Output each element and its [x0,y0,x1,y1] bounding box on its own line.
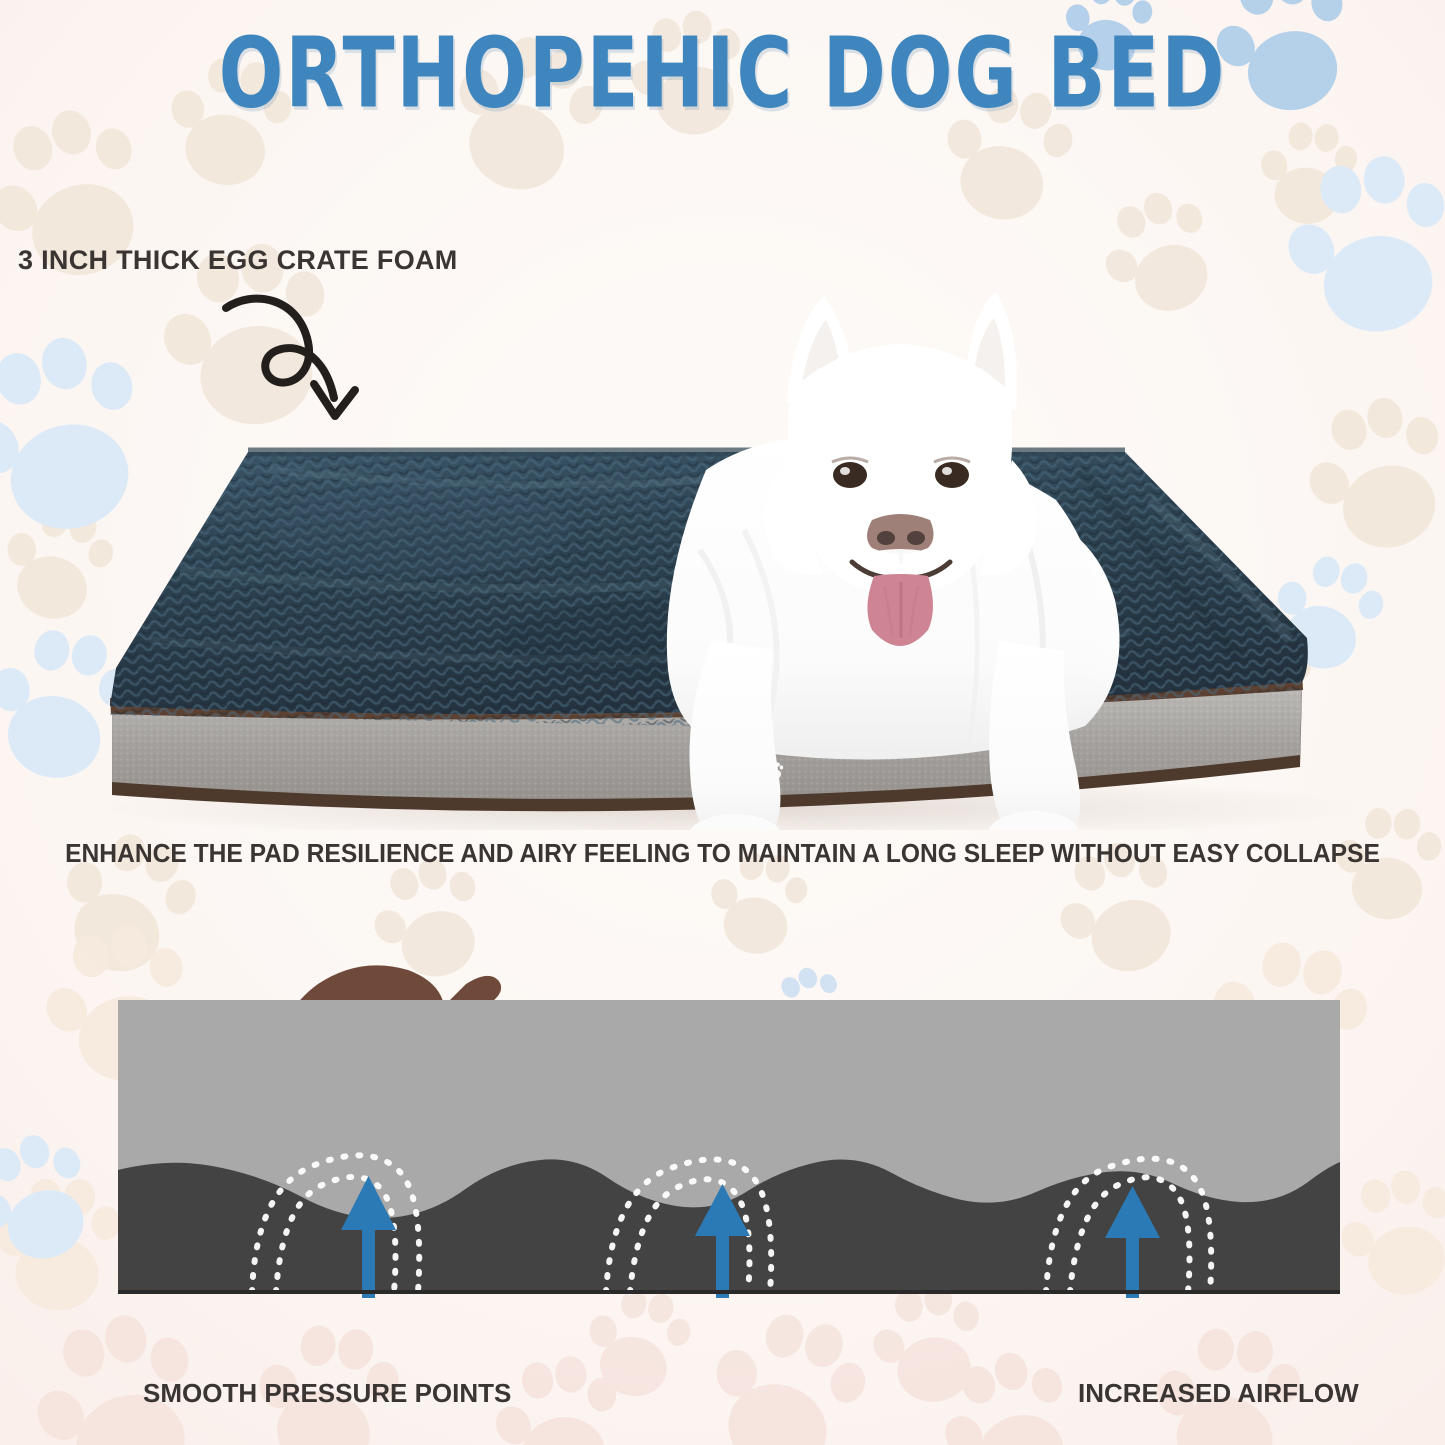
infographic-page: ORTHOPEHIC DOG BED 3 INCH THICK EGG CRAT… [0,0,1445,1445]
foam-cross-section-diagram [0,940,1445,1340]
page-title: ORTHOPEHIC DOG BED [51,18,1395,130]
label-increased-airflow: INCREASED AIRFLOW [1078,1378,1359,1409]
dog-photo [667,292,1120,830]
curved-down-right-arrow-icon [222,286,392,431]
label-smooth-pressure-points: SMOOTH PRESSURE POINTS [143,1378,511,1409]
product-benefit-caption: ENHANCE THE PAD RESILIENCE AND AIRY FEEL… [25,840,1419,869]
foam-callout-label: 3 INCH THICK EGG CRATE FOAM [18,245,458,276]
